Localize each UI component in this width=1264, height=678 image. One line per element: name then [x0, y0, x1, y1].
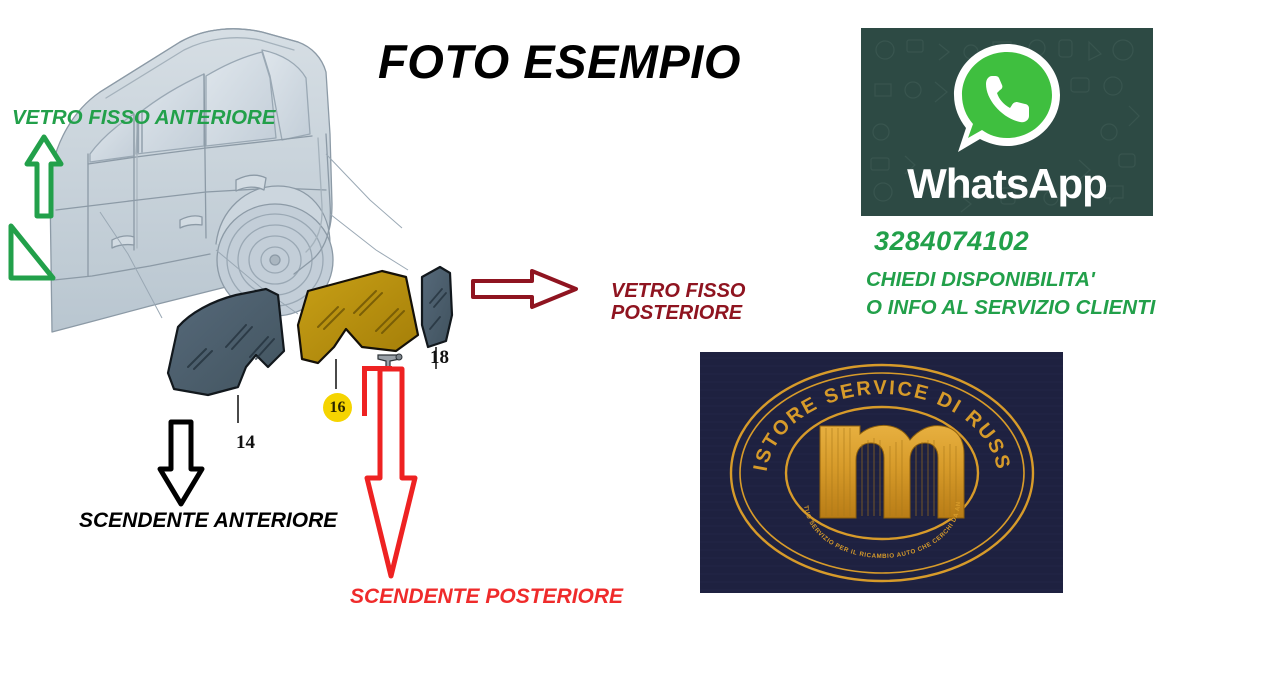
callout-vetro-fisso-anteriore: VETRO FISSO ANTERIORE — [12, 107, 276, 130]
whatsapp-logo-icon — [948, 38, 1066, 165]
shop-logo-emblem: MRICAMBISTORE SERVICE DI RUSSO MARCO AL … — [700, 352, 1063, 593]
whatsapp-wordmark: WhatsApp — [861, 160, 1153, 208]
callout-line-2: POSTERIORE — [611, 302, 745, 324]
dark-red-right-arrow-icon — [470, 268, 580, 315]
part-number-14: 14 — [236, 432, 255, 454]
callout-scendente-anteriore: SCENDENTE ANTERIORE — [79, 509, 337, 533]
black-down-arrow-icon — [157, 419, 205, 512]
foto-esempio-page: 14 16 17 18 FOTO ESEMPIO VETRO FISSO ANT… — [0, 0, 1264, 678]
contact-customer-service-text: O INFO AL SERVIZIO CLIENTI — [866, 296, 1155, 320]
svg-text:MRICAMBISTORE SERVICE DI RUSSO: MRICAMBISTORE SERVICE DI RUSSO MARCO — [700, 352, 1014, 473]
contact-availability-text: CHIEDI DISPONIBILITA' — [866, 268, 1095, 292]
whatsapp-banner[interactable]: WhatsApp — [861, 28, 1153, 216]
part-number-18: 18 — [430, 347, 449, 369]
part-number-16-badge: 16 — [323, 393, 352, 422]
callout-vetro-fisso-posteriore: VETRO FISSO POSTERIORE — [611, 280, 745, 325]
whatsapp-phone-number[interactable]: 3284074102 — [874, 226, 1029, 257]
shop-logo-arc-text: MRICAMBISTORE SERVICE DI RUSSO MARCO — [700, 352, 1014, 473]
red-down-arrow-icon — [362, 366, 420, 585]
callout-scendente-posteriore: SCENDENTE POSTERIORE — [350, 585, 623, 609]
callout-line-1: VETRO FISSO — [611, 280, 745, 302]
shop-logo-banner: MRICAMBISTORE SERVICE DI RUSSO MARCO AL … — [700, 352, 1063, 593]
page-title: FOTO ESEMPIO — [378, 34, 741, 89]
green-triangle-arrow-icon — [6, 222, 58, 289]
green-up-arrow-icon — [24, 134, 64, 225]
